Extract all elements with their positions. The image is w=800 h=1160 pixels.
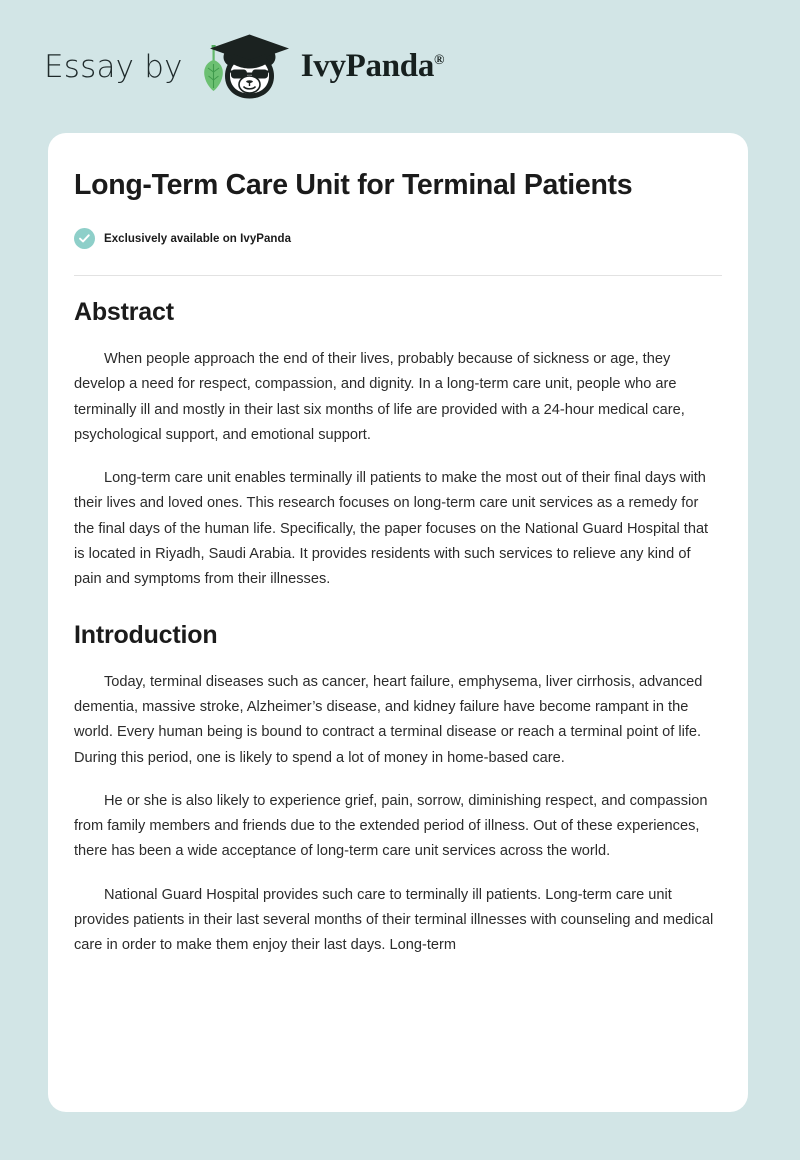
brand-header: Essay by	[0, 0, 800, 133]
paragraph: He or she is also likely to experience g…	[74, 789, 722, 865]
section-heading-abstract: Abstract	[74, 298, 722, 327]
registered-mark: ®	[434, 53, 444, 68]
paragraph: Long-term care unit enables terminally i…	[74, 466, 722, 592]
ivypanda-panda-graduate-logo-icon	[197, 34, 293, 100]
page-title: Long-Term Care Unit for Terminal Patient…	[74, 165, 634, 206]
paragraph: Today, terminal diseases such as cancer,…	[74, 670, 722, 771]
ivypanda-wordmark: IvyPanda®	[301, 48, 444, 85]
section-heading-introduction: Introduction	[74, 621, 722, 650]
essay-by-label: Essay by	[44, 49, 183, 85]
ivypanda-logo[interactable]: IvyPanda®	[197, 34, 444, 100]
status-badge: Exclusively available on IvyPanda	[74, 228, 722, 249]
brand-name-text: IvyPanda	[301, 48, 434, 84]
document-card: Long-Term Care Unit for Terminal Patient…	[48, 133, 748, 1112]
status-badge-label: Exclusively available on IvyPanda	[104, 233, 291, 245]
check-circle-icon	[74, 228, 95, 249]
paragraph: National Guard Hospital provides such ca…	[74, 883, 722, 959]
title-divider	[74, 275, 722, 276]
paragraph: When people approach the end of their li…	[74, 347, 722, 448]
